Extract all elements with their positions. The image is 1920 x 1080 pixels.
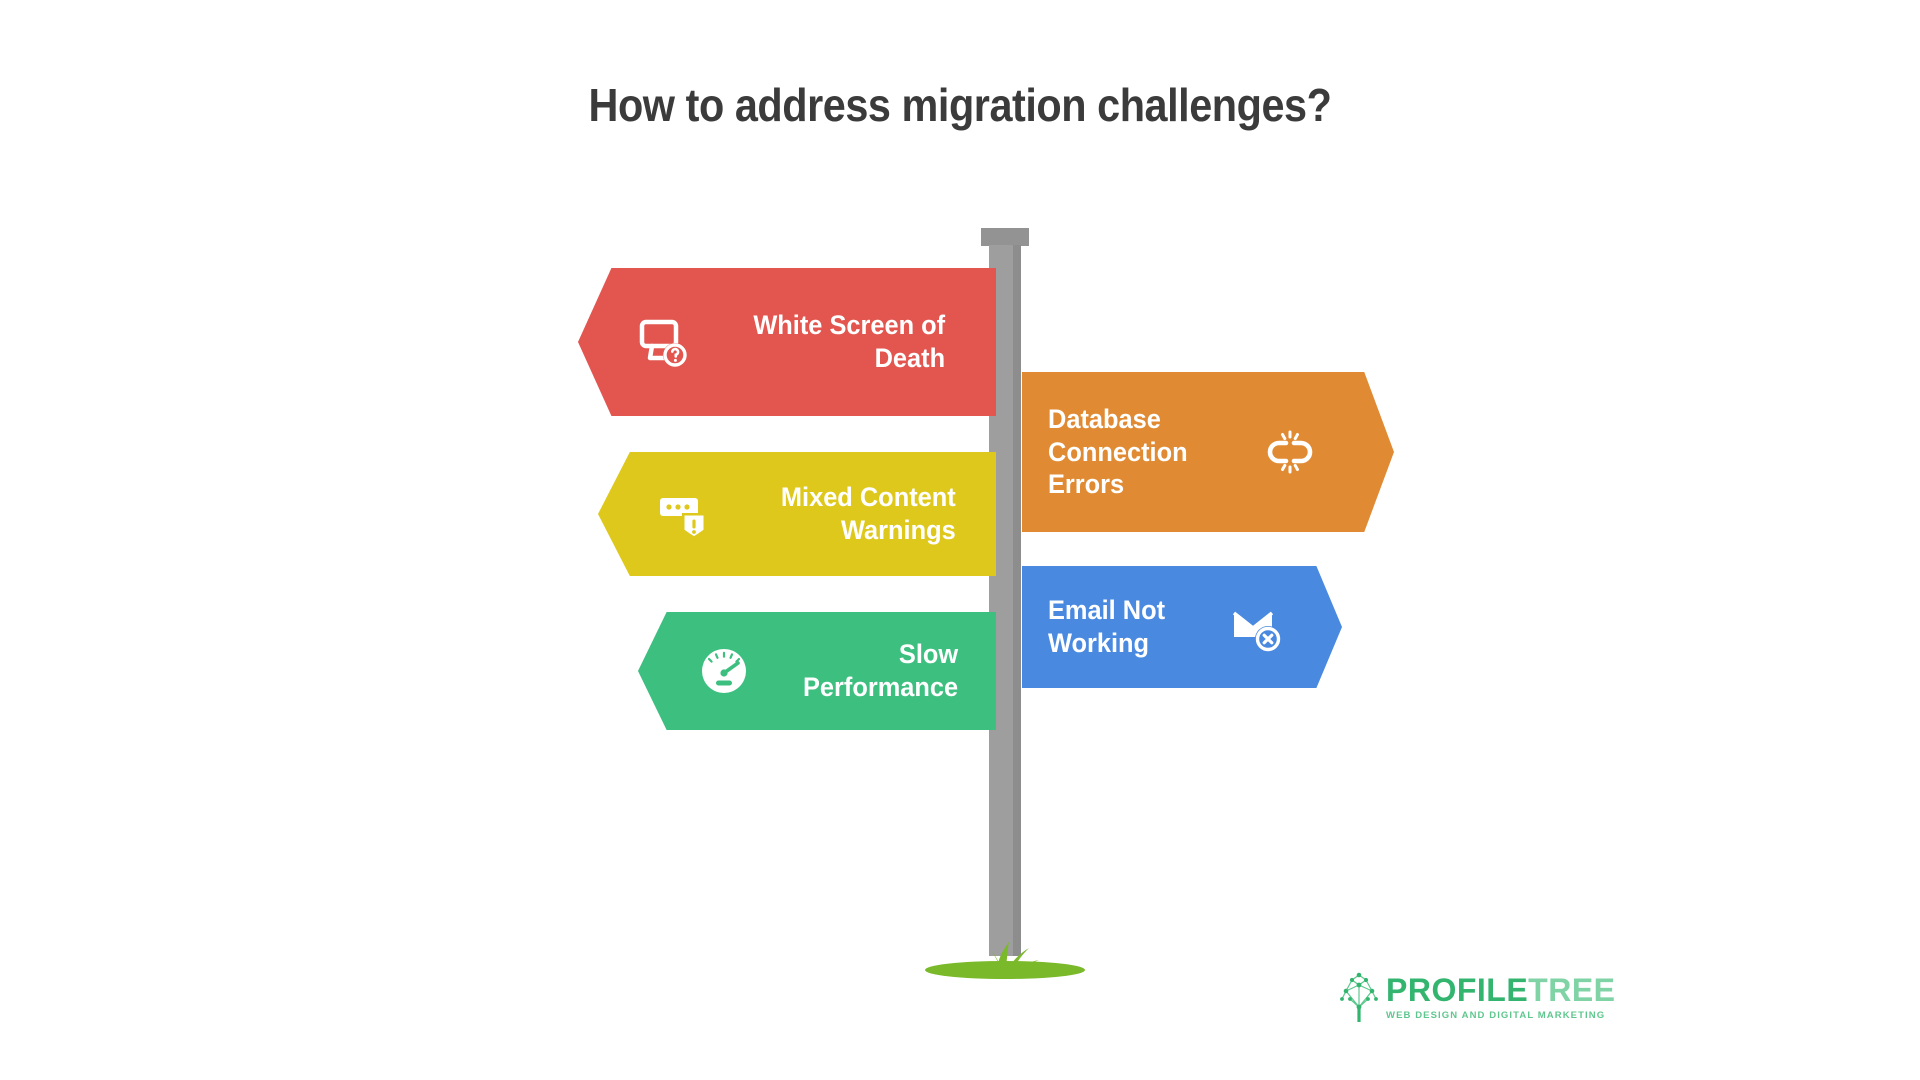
profiletree-logo[interactable]: PROFILETREE WEB DESIGN AND DIGITAL MARKE…	[1338, 965, 1560, 1029]
logo-name-primary: PROFILE	[1386, 972, 1528, 1008]
envelope-error-icon	[1228, 599, 1284, 655]
logo-tagline: WEB DESIGN AND DIGITAL MARKETING	[1386, 1010, 1616, 1021]
sign-white-screen-of-death[interactable]: White Screen of Death	[578, 268, 996, 416]
sign-mixed-content-warnings[interactable]: Mixed Content Warnings	[598, 452, 996, 576]
page-title: How to address migration challenges?	[96, 78, 1824, 132]
network-tree-icon	[1338, 971, 1380, 1023]
signpost-pole-shading	[1013, 245, 1021, 956]
sign-label: White Screen of Death	[712, 309, 945, 375]
sign-label: Database Connection Errors	[1048, 403, 1236, 502]
logo-wordmark: PROFILETREE WEB DESIGN AND DIGITAL MARKE…	[1386, 974, 1616, 1021]
monitor-question-icon	[636, 314, 692, 370]
password-shield-warning-icon	[656, 486, 712, 542]
sign-database-connection-errors[interactable]: Database Connection Errors	[1022, 372, 1394, 532]
sign-label: Mixed Content Warnings	[732, 481, 956, 547]
grass-base-icon	[925, 940, 1085, 984]
broken-link-icon	[1262, 424, 1318, 480]
sign-label: Email Not Working	[1048, 594, 1204, 660]
logo-name-secondary: TREE	[1528, 972, 1615, 1008]
sign-label: Slow Performance	[772, 638, 958, 704]
signpost-cap	[981, 228, 1029, 246]
infographic-canvas: How to address migration challenges? Whi…	[0, 0, 1920, 1080]
speedometer-icon	[696, 643, 752, 699]
sign-email-not-working[interactable]: Email Not Working	[1022, 566, 1342, 688]
sign-slow-performance[interactable]: Slow Performance	[638, 612, 996, 730]
